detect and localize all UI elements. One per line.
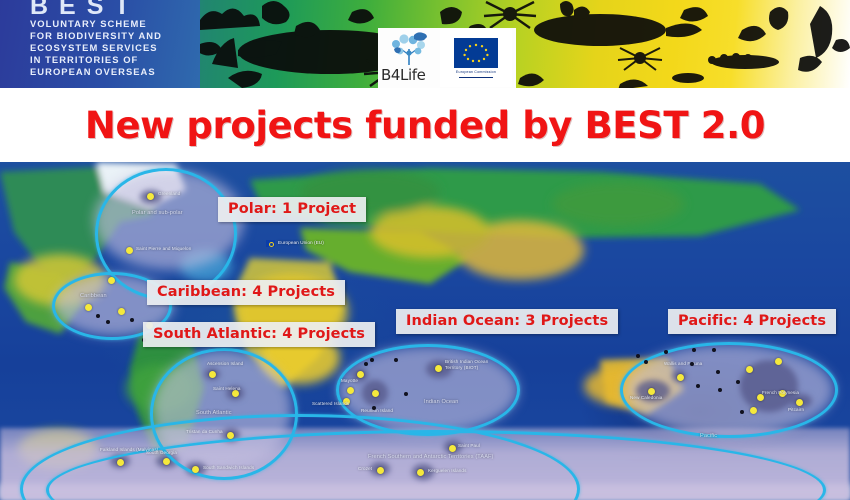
callout-indian-ocean[interactable]: Indian Ocean: 3 Projects: [396, 309, 618, 334]
scheme-line-1: VOLUNTARY SCHEME: [30, 18, 198, 30]
marker-caribbean-minor-2: [106, 320, 110, 324]
best-banner: BEST VOLUNTARY SCHEME FOR BIODIVERSITY A…: [0, 0, 850, 88]
label-crozet: Crozet: [358, 466, 372, 471]
marker-ascension[interactable]: [209, 371, 216, 378]
marker-crozet[interactable]: [377, 467, 384, 474]
logo-strip: B4Life European Commis: [378, 28, 516, 88]
label-indian-ocean: Indian Ocean: [424, 399, 458, 405]
scheme-line-5: EUROPEAN OVERSEAS: [30, 66, 198, 78]
marker-tristan[interactable]: [227, 432, 234, 439]
scheme-line-3: ECOSYSTEM SERVICES: [30, 42, 198, 54]
marker-polynesia-1[interactable]: [746, 366, 753, 373]
callout-caribbean[interactable]: Caribbean: 4 Projects: [147, 280, 345, 305]
marker-pacific-minor-9: [736, 380, 740, 384]
marker-saint-helena[interactable]: [232, 390, 239, 397]
label-pitcairn: Pitcairn: [788, 407, 804, 412]
marker-caribbean-minor-3: [130, 318, 134, 322]
marker-pacific-minor-10: [740, 410, 744, 414]
marker-polynesia-3[interactable]: [757, 394, 764, 401]
marker-pitcairn[interactable]: [796, 399, 803, 406]
label-pacific-ocean: Pacific: [700, 433, 717, 439]
marker-pacific-minor-1: [664, 350, 668, 354]
label-polar-sub: Polar and sub-polar: [132, 210, 183, 216]
marker-caribbean-minor-1: [96, 314, 100, 318]
label-reunion: Reunion Island: [361, 408, 393, 413]
label-mayotte: Mayotte: [341, 378, 358, 383]
marker-saint-pierre[interactable]: [126, 247, 133, 254]
scheme-line-2: FOR BIODIVERSITY AND: [30, 30, 198, 42]
marker-indian-minor-5: [372, 406, 376, 410]
marker-indian-minor-2: [364, 362, 368, 366]
page-title: New projects funded by BEST 2.0: [85, 104, 765, 147]
label-saint-helena: Saint Helena: [213, 386, 241, 391]
marker-polynesia-2[interactable]: [775, 358, 782, 365]
best-acronym: BEST: [30, 0, 141, 19]
label-greenland: Greenland: [158, 191, 180, 196]
eu-stars: [454, 38, 498, 68]
title-band: New projects funded by BEST 2.0: [0, 88, 850, 162]
label-biot: British Indian Ocean Territory (BIOT): [445, 359, 497, 371]
marker-pacific-minor-4: [690, 362, 694, 366]
callout-polar[interactable]: Polar: 1 Project: [218, 197, 366, 222]
b4life-wordmark: B4Life: [381, 66, 425, 84]
label-scattered: Scattered Islands: [312, 401, 349, 406]
label-saint-pierre: Saint Pierre and Miquelon: [136, 246, 191, 251]
marker-biot[interactable]: [435, 365, 442, 372]
marker-caribbean-1[interactable]: [108, 277, 115, 284]
marker-new-caledonia[interactable]: [648, 388, 655, 395]
marker-pacific-minor-7: [718, 388, 722, 392]
eu-flag-small-icon: [266, 240, 275, 247]
eu-map-tag: European Union (EU): [266, 240, 324, 247]
marker-scattered-1[interactable]: [347, 387, 354, 394]
marker-pacific-minor-11: [636, 354, 640, 358]
marker-indian-minor-4: [370, 358, 374, 362]
marker-falkland[interactable]: [117, 459, 124, 466]
marker-mayotte[interactable]: [357, 371, 364, 378]
marker-caribbean-3[interactable]: [118, 308, 125, 315]
label-saint-paul: Saint Paul: [458, 443, 480, 448]
poster-root: BEST VOLUNTARY SCHEME FOR BIODIVERSITY A…: [0, 0, 850, 500]
marker-indian-minor-3: [404, 392, 408, 396]
marker-caribbean-2[interactable]: [85, 304, 92, 311]
european-commission-logo: European Commission: [440, 29, 512, 87]
callout-south-atlantic[interactable]: South Atlantic: 4 Projects: [143, 322, 375, 347]
best-logo-block: BEST VOLUNTARY SCHEME FOR BIODIVERSITY A…: [0, 0, 200, 88]
callout-pacific[interactable]: Pacific: 4 Projects: [668, 309, 836, 334]
marker-pacific-minor-8: [696, 384, 700, 388]
label-south-georgia: South Georgia: [146, 450, 177, 455]
marker-pacific-minor-5: [712, 348, 716, 352]
label-kerguelen: Kerguelen Islands: [428, 468, 466, 473]
label-south-sandwich: South Sandwich Islands: [203, 465, 254, 470]
b4life-logo: B4Life: [378, 29, 440, 87]
marker-greenland[interactable]: [147, 193, 154, 200]
label-caribbean: Caribbean: [80, 293, 107, 299]
label-french-polynesia: French Polynesia: [762, 390, 799, 395]
marker-saint-paul[interactable]: [449, 445, 456, 452]
label-new-caledonia: New Caledonia: [630, 395, 662, 400]
b4life-tree-icon: [386, 31, 434, 65]
scheme-subtitle: VOLUNTARY SCHEME FOR BIODIVERSITY AND EC…: [30, 18, 198, 78]
marker-polynesia-5[interactable]: [750, 407, 757, 414]
marker-pacific-minor-2: [692, 348, 696, 352]
marker-indian-minor-1: [394, 358, 398, 362]
marker-south-sandwich[interactable]: [192, 466, 199, 473]
scheme-line-4: IN TERRITORIES OF: [30, 54, 198, 66]
label-wallis-futuna: Wallis and Futuna: [664, 361, 702, 366]
ec-divider: [459, 77, 493, 78]
eu-flag-icon: [454, 38, 498, 68]
marker-kerguelen[interactable]: [417, 469, 424, 476]
marker-wallis-futuna[interactable]: [677, 374, 684, 381]
eu-map-label: European Union (EU): [278, 241, 324, 246]
european-commission-caption: European Commission: [456, 70, 496, 74]
marker-pacific-minor-3: [644, 360, 648, 364]
label-tristan: Tristan da Cunha: [186, 429, 223, 434]
marker-pacific-minor-6: [716, 370, 720, 374]
marker-south-georgia[interactable]: [163, 458, 170, 465]
label-south-atlantic: South Atlantic: [196, 410, 232, 416]
label-taaf: French Southern and Antarctic Territorie…: [368, 454, 494, 460]
marker-reunion[interactable]: [372, 390, 379, 397]
label-ascension: Ascension Island: [207, 361, 243, 366]
world-map: European Union (EU) Greenland Polar and …: [0, 162, 850, 500]
